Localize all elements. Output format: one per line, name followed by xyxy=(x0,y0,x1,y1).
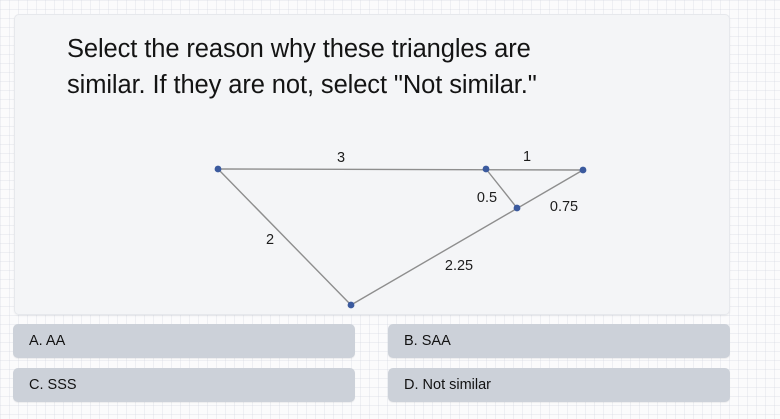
segment-small-left-side xyxy=(486,169,517,208)
vertex-small-top-left xyxy=(483,166,490,173)
question-card: Select the reason why these triangles ar… xyxy=(14,14,730,315)
answer-options: A. AA B. SAA C. SSS D. Not similar xyxy=(13,324,730,406)
option-b[interactable]: B. SAA xyxy=(388,324,730,358)
option-b-label: B. SAA xyxy=(404,333,451,349)
option-c-label: C. SSS xyxy=(29,377,77,393)
question-prompt: Select the reason why these triangles ar… xyxy=(67,31,707,103)
diagram-labels: 310.50.7522.25 xyxy=(266,149,578,274)
diagram-segments xyxy=(218,169,583,305)
label-1: 1 xyxy=(523,149,531,165)
label-225: 2.25 xyxy=(445,258,473,274)
option-a[interactable]: A. AA xyxy=(13,324,355,358)
vertex-large-bottom xyxy=(348,302,355,309)
segment-left-side xyxy=(218,169,351,305)
label-05: 0.5 xyxy=(477,190,497,206)
vertex-large-left xyxy=(215,166,222,173)
vertex-large-top-right xyxy=(580,167,587,174)
option-d-label: D. Not similar xyxy=(404,377,491,393)
option-d[interactable]: D. Not similar xyxy=(388,368,730,402)
segment-hypotenuse xyxy=(351,170,583,305)
label-075: 0.75 xyxy=(550,199,578,215)
segment-top-side xyxy=(218,169,583,170)
label-2: 2 xyxy=(266,232,274,248)
vertex-small-bottom xyxy=(514,205,521,212)
diagram-vertices xyxy=(215,166,587,309)
option-a-label: A. AA xyxy=(29,333,65,349)
option-c[interactable]: C. SSS xyxy=(13,368,355,402)
label-3: 3 xyxy=(337,150,345,166)
